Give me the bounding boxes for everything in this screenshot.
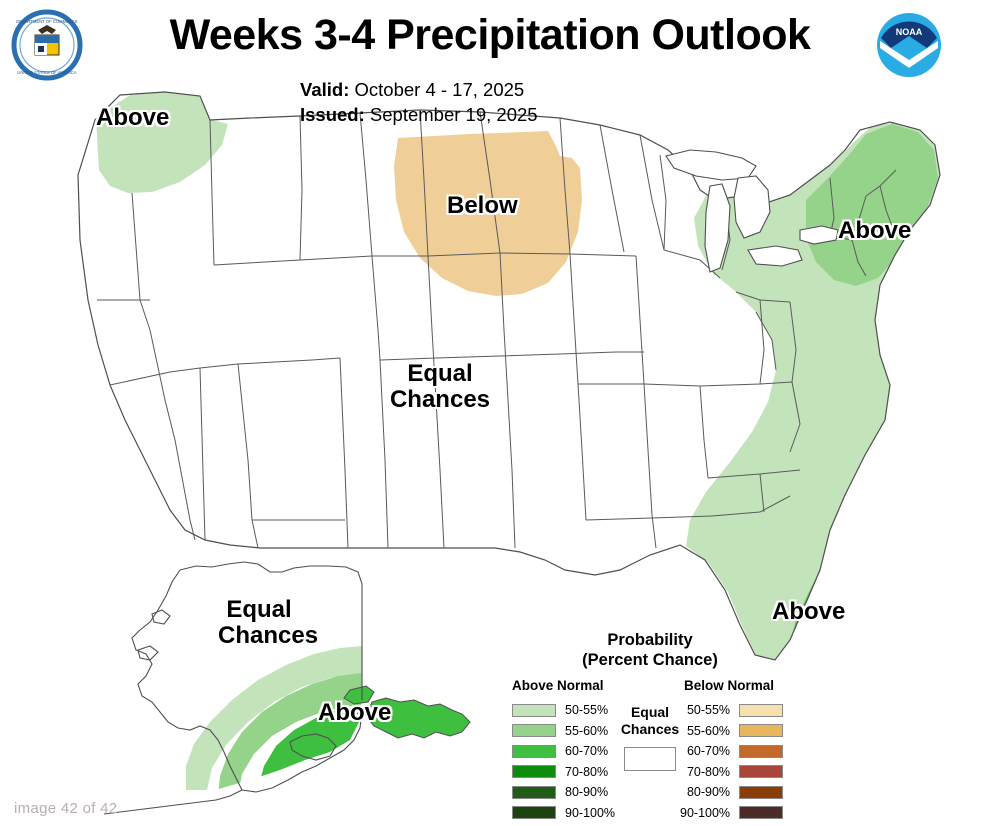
legend-swatch-below-55-60 — [739, 724, 783, 737]
legend-equal-line1: Equal — [604, 704, 696, 721]
noaa-logo-text: NOAA — [896, 27, 923, 37]
legend-swatch-below-60-70 — [739, 745, 783, 758]
noaa-logo: NOAA — [872, 8, 946, 82]
map-label-central-line1: Equal — [385, 361, 495, 387]
legend-row-below-80-90: 80-90% — [680, 782, 783, 803]
legend-swatch-below-80-90 — [739, 786, 783, 799]
legend-row-above-80-90: 80-90% — [512, 782, 615, 803]
map-label-central-equal-chances: Equal Chances — [385, 361, 495, 413]
svg-text:DEPARTMENT OF COMMERCE: DEPARTMENT OF COMMERCE — [16, 19, 78, 24]
legend-row-below-90-100: 90-100% — [680, 803, 783, 824]
legend-swatch-above-70-80 — [512, 765, 556, 778]
legend-swatch-above-60-70 — [512, 745, 556, 758]
legend-heading-above: Above Normal — [512, 678, 604, 693]
issued-value: September 19, 2025 — [370, 104, 538, 125]
legend-row-above-70-80: 70-80% — [512, 762, 615, 783]
legend-swatch-above-50-55 — [512, 704, 556, 717]
legend: Probability (Percent Chance) Above Norma… — [500, 630, 800, 826]
map-label-pacific-northwest: Above — [96, 105, 169, 131]
valid-label: Valid: — [300, 79, 349, 100]
image-counter-watermark: image 42 of 42 — [14, 800, 117, 817]
map-label-alaska-equal-chances: Equal Chances — [218, 597, 300, 649]
legend-row-above-90-100: 90-100% — [512, 803, 615, 824]
legend-swatch-above-55-60 — [512, 724, 556, 737]
lake-erie — [748, 246, 802, 266]
map-label-alaska-line1: Equal — [218, 597, 300, 623]
legend-row-above-60-70: 60-70% — [512, 741, 615, 762]
map-label-florida: Above — [772, 599, 845, 625]
map-label-central-line2: Chances — [385, 387, 495, 413]
legend-title-line2: (Percent Chance) — [500, 650, 800, 670]
legend-label-above-55-60: 55-60% — [565, 724, 608, 738]
legend-column-above-normal: 50-55%55-60%60-70%70-80%80-90%90-100% — [512, 700, 615, 823]
legend-label-above-80-90: 80-90% — [565, 785, 608, 799]
legend-label-below-90-100: 90-100% — [680, 806, 730, 820]
legend-label-above-50-55: 50-55% — [565, 703, 608, 717]
issued-line: Issued: September 19, 2025 — [300, 103, 640, 127]
map-label-alaska-above: Above — [318, 700, 391, 726]
legend-row-above-55-60: 55-60% — [512, 721, 615, 742]
issued-label: Issued: — [300, 104, 365, 125]
legend-title-line1: Probability — [500, 630, 800, 650]
map-label-alaska-line2: Chances — [218, 623, 300, 649]
legend-title: Probability (Percent Chance) — [500, 630, 800, 670]
region-northeast-above-55-60 — [806, 124, 938, 286]
legend-swatch-below-70-80 — [739, 765, 783, 778]
legend-label-below-80-90: 80-90% — [687, 785, 730, 799]
map-label-northern-plains: Below — [447, 193, 518, 219]
legend-row-above-50-55: 50-55% — [512, 700, 615, 721]
page-title: Weeks 3-4 Precipitation Outlook — [110, 14, 870, 57]
precipitation-outlook-map: DEPARTMENT OF COMMERCE UNITED STATES OF … — [0, 0, 981, 826]
valid-value: October 4 - 17, 2025 — [355, 79, 525, 100]
legend-swatch-below-90-100 — [739, 806, 783, 819]
svg-text:UNITED STATES OF AMERICA: UNITED STATES OF AMERICA — [17, 70, 77, 75]
valid-line: Valid: October 4 - 17, 2025 — [300, 78, 640, 102]
legend-label-above-70-80: 70-80% — [565, 765, 608, 779]
legend-equal-swatch — [624, 747, 676, 771]
legend-label-above-60-70: 60-70% — [565, 744, 608, 758]
legend-label-above-90-100: 90-100% — [565, 806, 615, 820]
legend-swatch-above-80-90 — [512, 786, 556, 799]
legend-heading-below: Below Normal — [684, 678, 774, 693]
department-of-commerce-seal: DEPARTMENT OF COMMERCE UNITED STATES OF … — [8, 6, 86, 84]
map-label-northeast: Above — [838, 218, 911, 244]
legend-equal-line2: Chances — [604, 721, 696, 738]
legend-swatch-above-90-100 — [512, 806, 556, 819]
legend-equal-chances: Equal Chances — [604, 704, 696, 771]
legend-swatch-below-50-55 — [739, 704, 783, 717]
